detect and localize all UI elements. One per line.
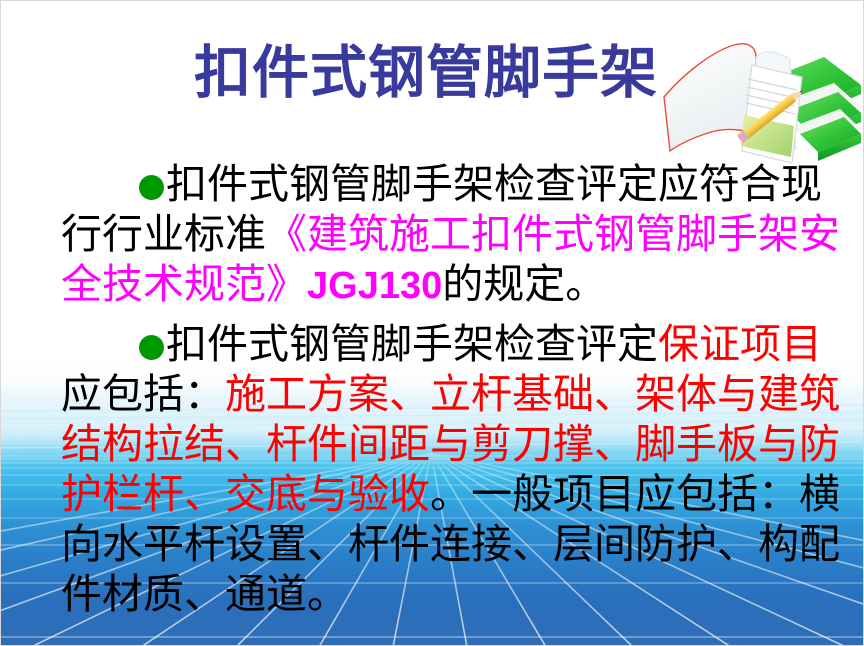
p2-guarantee-items-label: 保证项目 xyxy=(658,321,822,367)
p1-standard-code: JGJ130 xyxy=(307,265,442,307)
bullet-paragraph-1: 扣件式钢管脚手架检查评定应符合现行行业标准《建筑施工扣件式钢管脚手架安全技术规范… xyxy=(61,159,857,311)
p2-run-1: 扣件式钢管脚手架检查评定 xyxy=(166,321,658,367)
bullet-paragraph-2: 扣件式钢管脚手架检查评定保证项目应包括：施工方案、立杆基础、架体与建筑结构拉结、… xyxy=(61,319,857,619)
presentation-slide: 扣件式钢管脚手架 xyxy=(0,0,864,646)
title-row: 扣件式钢管脚手架 xyxy=(1,19,864,149)
page-title: 扣件式钢管脚手架 xyxy=(191,43,661,105)
open-book-with-pencil-icon xyxy=(656,41,861,169)
p2-run-3: 应包括： xyxy=(61,371,225,417)
p1-run-4: 的规定。 xyxy=(442,261,606,307)
slide-body: 扣件式钢管脚手架检查评定应符合现行行业标准《建筑施工扣件式钢管脚手架安全技术规范… xyxy=(61,159,857,627)
bullet-dot-icon xyxy=(139,175,164,200)
bullet-dot-icon xyxy=(139,335,164,360)
